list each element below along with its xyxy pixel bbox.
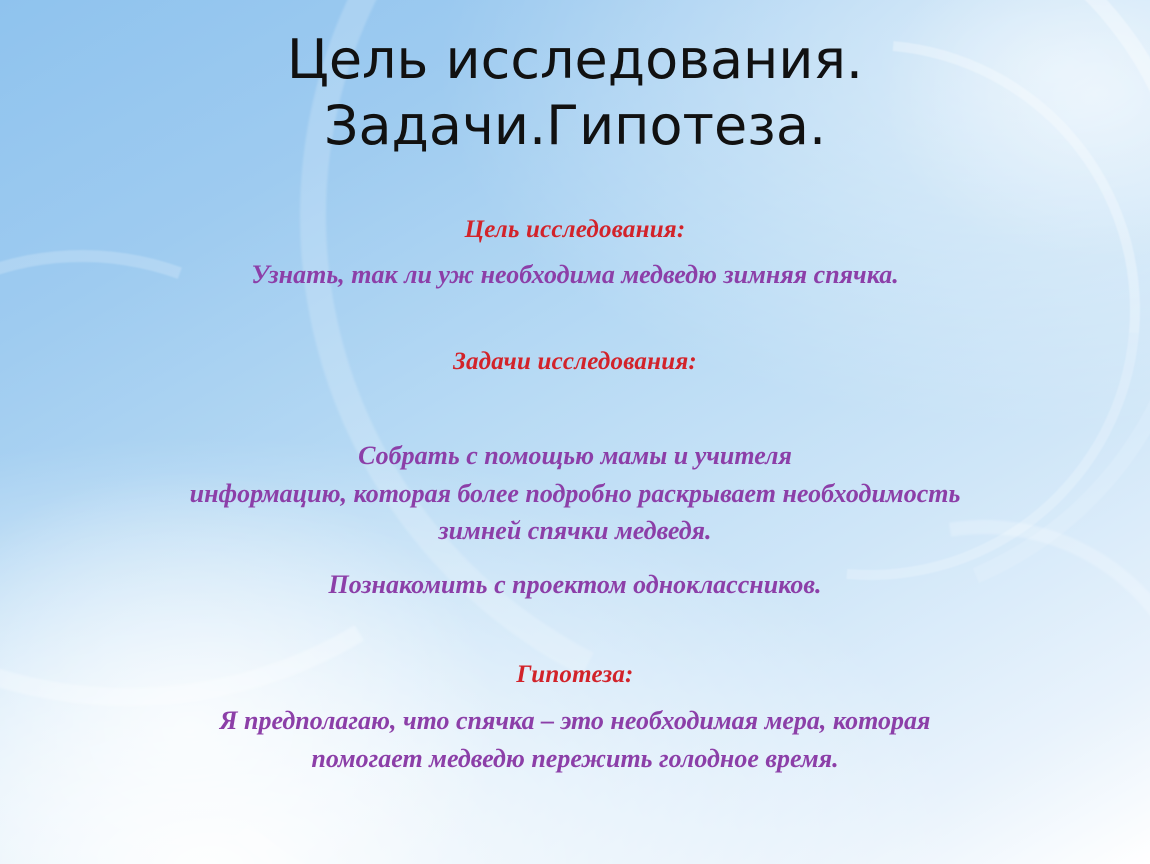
tasks-text-line-2: информацию, которая более подробно раскр… <box>70 475 1080 513</box>
slide-title-line-1: Цель исследования. <box>90 28 1060 92</box>
slide-content: Цель исследования. Задачи.Гипотеза. Цель… <box>0 0 1150 864</box>
hypothesis-text-line-2: помогает медведю пережить голодное время… <box>70 740 1080 778</box>
goal-heading: Цель исследования: <box>70 216 1080 244</box>
hypothesis-text: Я предполагаю, что спячка – это необходи… <box>70 702 1080 777</box>
slide-title-line-2: Задачи.Гипотеза. <box>90 94 1060 158</box>
tasks-text-extra: Познакомить с проектом одноклассников. <box>70 566 1080 604</box>
goal-text: Узнать, так ли уж необходима медведю зим… <box>70 256 1080 294</box>
slide-title: Цель исследования. Задачи.Гипотеза. <box>90 28 1060 157</box>
hypothesis-heading: Гипотеза: <box>70 661 1080 689</box>
tasks-text-line-3: зимней спячки медведя. <box>70 512 1080 550</box>
tasks-text-line-1: Собрать с помощью мамы и учителя <box>70 437 1080 475</box>
tasks-heading: Задачи исследования: <box>70 348 1080 376</box>
presentation-slide: Цель исследования. Задачи.Гипотеза. Цель… <box>0 0 1150 864</box>
hypothesis-text-line-1: Я предполагаю, что спячка – это необходи… <box>70 702 1080 740</box>
tasks-text: Собрать с помощью мамы и учителя информа… <box>70 437 1080 550</box>
tasks-text-line-4: Познакомить с проектом одноклассников. <box>70 566 1080 604</box>
